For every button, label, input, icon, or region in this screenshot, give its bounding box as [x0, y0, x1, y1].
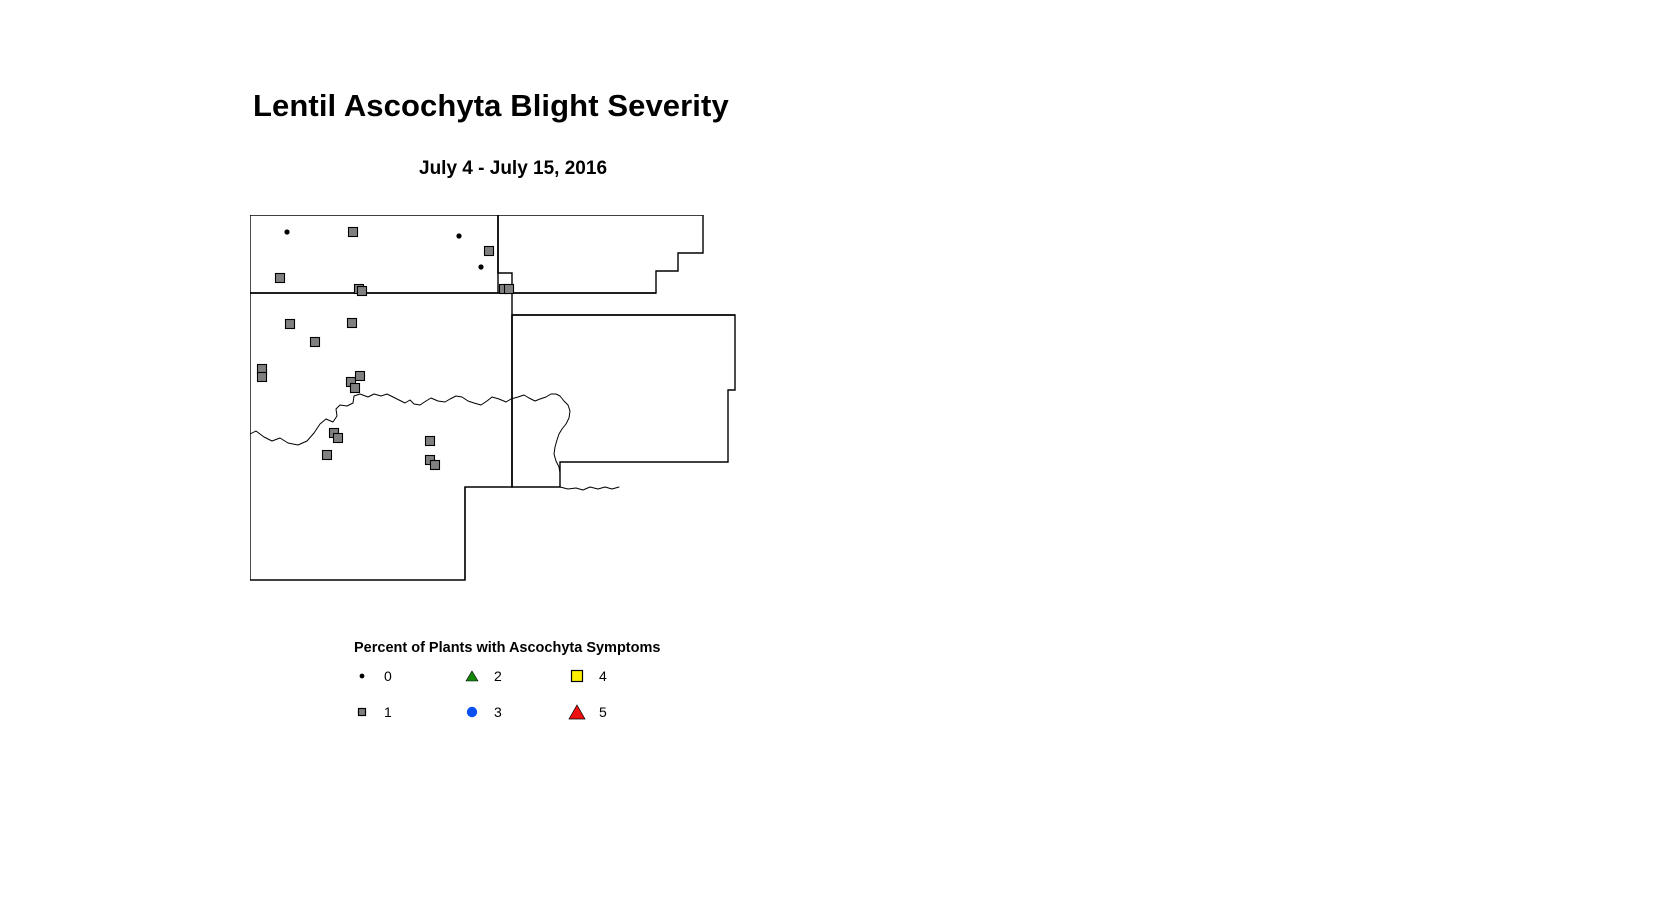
green-triangle-icon [460, 668, 484, 684]
legend-title: Percent of Plants with Ascochyta Symptom… [354, 640, 660, 656]
map-point-severity-1 [311, 338, 320, 347]
map-point-severity-1 [349, 228, 358, 237]
county-boundary-east [512, 315, 735, 487]
legend-label-2: 2 [494, 668, 502, 684]
red-triangle-icon [565, 703, 589, 721]
map-point-severity-1 [485, 247, 494, 256]
blue-circle-icon [460, 704, 484, 720]
map-container [250, 215, 790, 625]
map-point-severity-1 [358, 287, 367, 296]
map-point-severity-1 [426, 437, 435, 446]
legend-label-4: 4 [599, 668, 607, 684]
map-point-severity-1 [348, 319, 357, 328]
county-boundary-northwest [250, 215, 498, 293]
legend-item-0[interactable]: 0 [350, 664, 392, 688]
map-point-severity-0 [456, 233, 461, 238]
map-point-severity-1 [351, 384, 360, 393]
map-point-severity-1 [505, 285, 514, 294]
page-title: Lentil Ascochyta Blight Severity [253, 88, 729, 124]
map-point-severity-1 [323, 451, 332, 460]
map-point-severity-1 [258, 373, 267, 382]
legend-item-5[interactable]: 5 [565, 700, 607, 724]
county-map [250, 215, 790, 625]
map-point-severity-1 [286, 320, 295, 329]
legend-label-0: 0 [384, 668, 392, 684]
legend-item-4[interactable]: 4 [565, 664, 607, 688]
legend-item-2[interactable]: 2 [460, 664, 502, 688]
legend-label-5: 5 [599, 704, 607, 720]
map-point-severity-1 [431, 461, 440, 470]
legend-row-top: 0 2 4 [350, 664, 750, 700]
map-point-severity-0 [478, 264, 483, 269]
yellow-square-icon [565, 668, 589, 684]
map-point-severity-0 [284, 229, 289, 234]
map-point-severity-1 [276, 274, 285, 283]
map-point-severity-1 [356, 372, 365, 381]
river-path [250, 394, 570, 487]
data-point-markers [258, 228, 514, 470]
legend-item-1[interactable]: 1 [350, 700, 392, 724]
map-legend: Percent of Plants with Ascochyta Symptom… [350, 640, 750, 730]
page-subtitle: July 4 - July 15, 2016 [419, 158, 607, 180]
legend-item-3[interactable]: 3 [460, 700, 502, 724]
legend-label-3: 3 [494, 704, 502, 720]
county-boundary-northeast [498, 215, 703, 293]
county-boundary-west [250, 293, 512, 580]
gray-square-icon [350, 704, 374, 720]
small-dot-icon [350, 668, 374, 684]
figure-canvas: Lentil Ascochyta Blight Severity July 4 … [0, 0, 1673, 900]
legend-items: 0 2 4 [350, 664, 750, 736]
river-path-south [560, 487, 619, 490]
legend-label-1: 1 [384, 704, 392, 720]
legend-row-bottom: 1 3 5 [350, 700, 750, 736]
map-point-severity-1 [334, 434, 343, 443]
